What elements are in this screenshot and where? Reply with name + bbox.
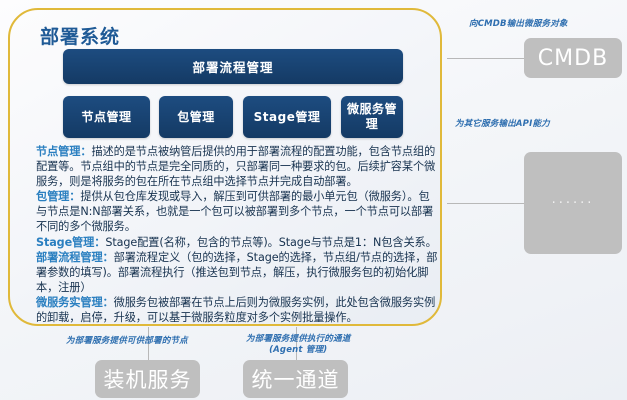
description-lead: 部署流程管理 bbox=[36, 251, 103, 264]
description-separator: ： bbox=[103, 251, 114, 264]
description-deployment-process-management: 部署流程管理：部署流程定义（包的选择，Stage的选择，节点组/节点的选择，部署… bbox=[36, 250, 440, 295]
annotation-unified-channel-sub: (Agent 管理) bbox=[246, 345, 350, 356]
connector-line-cmdb bbox=[447, 58, 525, 59]
description-body: 描述的是节点被纳管后提供的用于部署流程的配置功能，包含节点组的配置等。节点组中的… bbox=[36, 145, 435, 188]
description-microservice-instance-management: 微服务实管理：微服务包被部署在节点上后则为微服务实例，此处包含微服务实例的卸载，… bbox=[36, 295, 440, 325]
external-box-unified-channel[interactable]: 统一通道 bbox=[243, 360, 348, 398]
deployment-system-frame: 部署系统 部署流程管理 节点管理 包管理 Stage管理 微服务管理 节点管理：… bbox=[8, 8, 442, 326]
description-body: Stage配置(名称，包含的节点等)。Stage与节点是1：N包含关系。 bbox=[105, 236, 436, 249]
diagram-canvas: 部署系统 部署流程管理 节点管理 包管理 Stage管理 微服务管理 节点管理：… bbox=[0, 0, 627, 400]
description-separator: ： bbox=[103, 296, 114, 309]
page-title: 部署系统 bbox=[40, 22, 120, 49]
module-package-management[interactable]: 包管理 bbox=[159, 96, 233, 138]
description-lead: 微服务实管理 bbox=[36, 296, 103, 309]
external-box-install-service[interactable]: 装机服务 bbox=[95, 360, 200, 398]
description-body: 提供从包仓库发现或导入，解压到可供部署的最小单元包（微服务）。包与节点是N:N部… bbox=[36, 190, 433, 233]
module-row: 节点管理 包管理 Stage管理 微服务管理 bbox=[63, 96, 403, 138]
description-lead: 包管理 bbox=[36, 190, 69, 203]
annotation-install-service: 为部署服务提供可供部署的节点 bbox=[66, 334, 188, 346]
description-package-management: 包管理：提供从包仓库发现或导入，解压到可供部署的最小单元包（微服务）。包与节点是… bbox=[36, 189, 440, 234]
module-microservice-management[interactable]: 微服务管理 bbox=[341, 96, 403, 138]
annotation-cmdb: 向CMDB输出微服务对象 bbox=[469, 17, 568, 29]
description-stage-management: Stage管理：Stage配置(名称，包含的节点等)。Stage与节点是1：N包… bbox=[36, 235, 440, 250]
description-separator: ： bbox=[94, 236, 105, 249]
deployment-process-management-box[interactable]: 部署流程管理 bbox=[63, 49, 403, 84]
connector-line-api bbox=[447, 203, 525, 204]
description-node-management: 节点管理：描述的是节点被纳管后提供的用于部署流程的配置功能，包含节点组的配置等。… bbox=[36, 144, 440, 189]
annotation-unified-channel-main: 为部署服务提供执行的通道 bbox=[246, 334, 350, 344]
description-block: 节点管理：描述的是节点被纳管后提供的用于部署流程的配置功能，包含节点组的配置等。… bbox=[36, 144, 440, 325]
description-lead: 节点管理 bbox=[36, 145, 80, 158]
external-box-api[interactable]: ······ bbox=[524, 152, 622, 254]
description-separator: ： bbox=[80, 145, 91, 158]
annotation-api: 为其它服务输出API能力 bbox=[455, 117, 550, 129]
description-lead: Stage管理 bbox=[36, 236, 94, 249]
external-box-cmdb[interactable]: CMDB bbox=[524, 38, 622, 78]
module-stage-management[interactable]: Stage管理 bbox=[243, 96, 331, 138]
module-node-management[interactable]: 节点管理 bbox=[63, 96, 150, 138]
annotation-unified-channel: 为部署服务提供执行的通道 (Agent 管理) bbox=[246, 334, 350, 356]
description-separator: ： bbox=[69, 190, 80, 203]
